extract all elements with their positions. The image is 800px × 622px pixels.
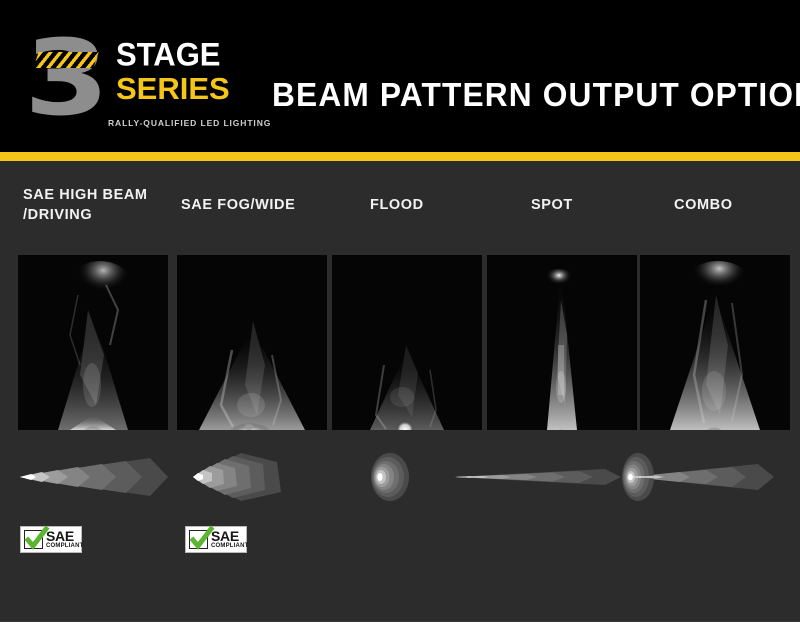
photo-illustration [332, 255, 482, 430]
column-label: SAE HIGH BEAM /DRIVING [23, 185, 193, 225]
spread-shape-sae-high-beam [18, 446, 193, 508]
sae-compliant-badge: SAE COMPLIANT [185, 526, 247, 553]
logo-word-series: SERIES [116, 73, 266, 105]
photo-illustration [177, 255, 327, 430]
beam-photo [487, 255, 637, 430]
badge-check-box [24, 530, 43, 549]
brand-logo: 3 STAGE SERIES RALLY-QUALIFIED LED LIGHT… [24, 22, 254, 134]
badge-check-box [189, 530, 208, 549]
badge-subtitle: COMPLIANT [46, 543, 83, 549]
header-bar: 3 STAGE SERIES RALLY-QUALIFIED LED LIGHT… [0, 0, 800, 152]
beam-spread-diagram [185, 446, 360, 508]
logo-numeral: 3 [24, 26, 105, 130]
beam-spread-diagram [18, 446, 193, 508]
photo-illustration [640, 255, 790, 430]
sae-compliant-badge: SAE COMPLIANT [20, 526, 82, 553]
beam-spread-diagram [608, 446, 783, 508]
pattern-grid: SAE HIGH BEAM /DRIVING [0, 161, 800, 622]
page-title: BEAM PATTERN OUTPUT OPTIONS [272, 78, 800, 111]
accent-stripe [0, 152, 800, 161]
beam-spread-diagram [455, 446, 630, 508]
logo-hash-stripes [33, 52, 98, 68]
photo-illustration [487, 255, 637, 430]
beam-photo [640, 255, 790, 430]
photo-illustration [18, 255, 168, 430]
logo-tagline: RALLY-QUALIFIED LED LIGHTING [108, 118, 271, 128]
spread-shape-wide [185, 446, 360, 508]
beam-photo [177, 255, 327, 430]
badge-title: SAE [211, 529, 239, 543]
spread-shape-combo [608, 446, 793, 508]
badge-title: SAE [46, 529, 74, 543]
badge-subtitle: COMPLIANT [211, 543, 248, 549]
logo-wordmark: STAGE SERIES [116, 38, 266, 105]
beam-photo [18, 255, 168, 430]
beam-pattern-infographic: 3 STAGE SERIES RALLY-QUALIFIED LED LIGHT… [0, 0, 800, 622]
column-label: SAE FOG/WIDE [181, 195, 351, 215]
beam-photo [332, 255, 482, 430]
logo-word-stage: STAGE [116, 38, 266, 71]
column-label: FLOOD [370, 195, 540, 215]
column-label: COMBO [674, 195, 800, 215]
